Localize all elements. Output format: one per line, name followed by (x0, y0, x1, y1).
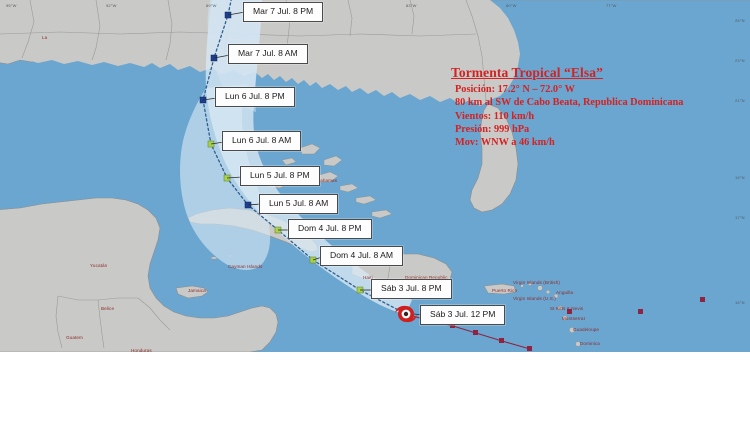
forecast-callout-1: Mar 7 Jul. 8 AM (228, 44, 308, 64)
storm-reference: 80 km al SW de Cabo Beata, Republica Dom… (451, 96, 743, 109)
place-label: Montserrat (562, 316, 585, 321)
place-label: St Kitts & Nevis (550, 306, 583, 311)
grid-tick-label: 19°N (735, 175, 745, 180)
forecast-callout-4: Lun 5 Jul. 8 PM (240, 166, 320, 186)
map-geometry (0, 0, 750, 352)
place-label: Cayman Islands (228, 264, 262, 269)
forecast-callout-0: Mar 7 Jul. 8 PM (243, 2, 323, 22)
hurricane-forecast-graphic: 95°W92°W89°W86°W83°W80°W77°W 25°N23°N21°… (0, 0, 750, 422)
grid-tick-label: 92°W (106, 3, 117, 8)
grid-tick-label: 77°W (606, 3, 617, 8)
place-label: Dominica (580, 341, 600, 346)
grid-tick-label: 95°W (6, 3, 17, 8)
grid-tick-label: 83°W (406, 3, 417, 8)
grid-tick-label: 17°N (735, 215, 745, 220)
grid-tick-label: 80°W (506, 3, 517, 8)
forecast-callout-9: Sáb 3 Jul. 12 PM (420, 305, 505, 325)
place-label: Virgin Islands (U.S.) (513, 296, 556, 301)
place-label: Jamaica (188, 288, 206, 293)
storm-info-panel: Tormenta Tropical “Elsa” Posición: 17.2°… (451, 64, 743, 149)
map-canvas[interactable]: 95°W92°W89°W86°W83°W80°W77°W 25°N23°N21°… (0, 0, 750, 352)
storm-position: Posición: 17.2° N – 72.0° W (451, 83, 743, 96)
grid-tick-label: 15°N (735, 300, 745, 305)
storm-title: Tormenta Tropical “Elsa” (451, 64, 743, 81)
place-label: Bahamas (317, 178, 337, 183)
grid-tick-label: 25°N (735, 18, 745, 23)
grid-tick-label: 89°W (206, 3, 217, 8)
place-label: Virgin Islands (British) (513, 280, 560, 285)
place-label: Guadeloupe (573, 327, 599, 332)
forecast-callout-8: Sáb 3 Jul. 8 PM (371, 279, 452, 299)
place-label: Yucatán (90, 263, 107, 268)
place-label: Anguilla (556, 290, 573, 295)
place-label: Guatem (66, 335, 83, 340)
place-label: Puerto Rico (492, 288, 517, 293)
place-label: La (42, 35, 47, 40)
place-label: Belice (101, 306, 114, 311)
footer-bar: Centro de Pronósticos INSMET 3 de julio … (0, 352, 750, 422)
storm-movement: Mov: WNW a 46 km/h (451, 136, 743, 149)
forecast-callout-2: Lun 6 Jul. 8 PM (215, 87, 295, 107)
forecast-callout-5: Lun 5 Jul. 8 AM (259, 194, 338, 214)
grid-tick-label: 23°N (735, 58, 745, 63)
forecast-callout-6: Dom 4 Jul. 8 PM (288, 219, 372, 239)
storm-winds: Vientos: 110 km/h (451, 110, 743, 123)
forecast-callout-7: Dom 4 Jul. 8 AM (320, 246, 403, 266)
forecast-callout-3: Lun 6 Jul. 8 AM (222, 131, 301, 151)
storm-pressure: Presión: 999 hPa (451, 123, 743, 136)
